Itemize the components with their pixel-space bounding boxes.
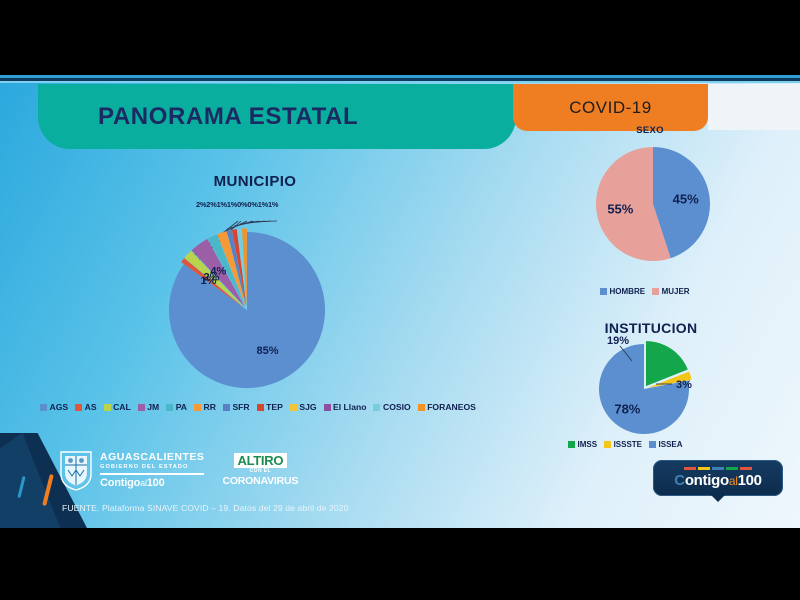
legend-item-issste[interactable]: ISSSTE	[604, 440, 642, 449]
legend-item-sjg[interactable]: SJG	[290, 402, 317, 412]
altiro-logo: ALTIRO CON EL CORONAVIRUS	[222, 453, 298, 487]
municipio-pie-chart: 85%1%2%4%	[143, 215, 373, 400]
right-white-panel	[708, 84, 800, 130]
legend-item-tep[interactable]: TEP	[257, 402, 283, 412]
legend-item-cosio[interactable]: COSIO	[373, 402, 410, 412]
legend-swatch	[75, 404, 82, 411]
legend-swatch	[418, 404, 425, 411]
badge-tail	[711, 495, 725, 502]
municipio-small-slice-labels: 2%2%1%1%0%0%1%1%	[196, 200, 278, 209]
gobierno-wordmark: AGUASCALIENTES GOBIERNO DEL ESTADO Conti…	[100, 452, 204, 489]
legend-label: HOMBRE	[610, 287, 646, 296]
legend-label: ISSEA	[659, 440, 683, 449]
legend-item-issea[interactable]: ISSEA	[649, 440, 683, 449]
sexo-pie-chart: 45%55%	[594, 143, 712, 265]
contigo-badge-text: Contigoal100	[674, 472, 761, 489]
legend-label: MUJER	[662, 287, 690, 296]
gob-100: 100	[147, 477, 165, 489]
legend-swatch	[649, 441, 656, 448]
legend-label: AGS	[50, 402, 69, 412]
legend-item-hombre[interactable]: HOMBRE	[600, 287, 645, 296]
gob-line-1: AGUASCALIENTES	[100, 452, 204, 463]
legend-item-imss[interactable]: IMSS	[568, 440, 597, 449]
altiro-line-1: ALTIRO	[234, 453, 288, 468]
legend-swatch	[223, 404, 230, 411]
slide-title-banner: PANORAMA ESTATAL	[38, 84, 516, 149]
legend-label: RR	[204, 402, 216, 412]
contigo-color-bars	[683, 467, 753, 470]
badge-al: al	[729, 474, 738, 488]
institucion-legend: IMSSISSSTEISSEA	[568, 440, 690, 449]
legend-swatch	[324, 404, 331, 411]
legend-swatch	[194, 404, 201, 411]
source-note: FUENTE. Plataforma SINAVE COVID – 19. Da…	[62, 503, 348, 513]
legend-swatch	[604, 441, 611, 448]
legend-label: COSIO	[383, 402, 411, 412]
legend-item-cal[interactable]: CAL	[104, 402, 131, 412]
badge-ontigo: ontigo	[685, 472, 729, 489]
contigo-al-100-badge: Contigoal100	[653, 460, 783, 496]
covid-tab[interactable]: COVID-19	[513, 84, 708, 131]
legend-label: ISSSTE	[614, 440, 642, 449]
altiro-line-3: CORONAVIRUS	[222, 475, 298, 487]
institucion-label-issste: 3%	[676, 379, 692, 391]
gob-contigo: Contigo	[100, 477, 140, 489]
pie-value-label-issea: 78%	[614, 402, 640, 417]
legend-item-foraneos[interactable]: FORANEOS	[418, 402, 476, 412]
legend-swatch	[652, 288, 659, 295]
covid-tab-label: COVID-19	[569, 98, 651, 118]
legend-item-pa[interactable]: PA	[166, 402, 187, 412]
institucion-pie-chart: 78% 19% 3%	[586, 337, 736, 442]
presentation-slide: PANORAMA ESTATAL COVID-19 MUNICIPIO 2%2%…	[0, 75, 800, 528]
pie-value-label-hombre: 45%	[673, 191, 699, 206]
legend-swatch	[138, 404, 145, 411]
gob-line-2: GOBIERNO DEL ESTADO	[100, 463, 204, 471]
legend-item-sfr[interactable]: SFR	[223, 402, 250, 412]
footer-logos: AGUASCALIENTES GOBIERNO DEL ESTADO Conti…	[58, 448, 298, 492]
legend-label: SJG	[299, 402, 316, 412]
municipio-pie-slices	[169, 229, 325, 388]
legend-label: IMSS	[578, 440, 598, 449]
legend-swatch	[568, 441, 575, 448]
aguascalientes-shield-icon	[58, 448, 94, 492]
screenshot-root: PANORAMA ESTATAL COVID-19 MUNICIPIO 2%2%…	[0, 0, 800, 600]
legend-swatch	[600, 288, 607, 295]
page-title: PANORAMA ESTATAL	[98, 103, 358, 131]
badge-100: 100	[738, 472, 762, 489]
legend-label: PA	[176, 402, 187, 412]
legend-label: SFR	[232, 402, 249, 412]
legend-item-as[interactable]: AS	[75, 402, 96, 412]
legend-label: FORANEOS	[427, 402, 476, 412]
legend-label: AS	[85, 402, 97, 412]
sexo-chart-title: SEXO	[590, 125, 710, 136]
pie-value-label-ags: 85%	[257, 345, 279, 357]
top-accent-line-3	[0, 81, 800, 83]
sexo-legend: HOMBREMUJER	[600, 287, 697, 296]
legend-item-mujer[interactable]: MUJER	[652, 287, 690, 296]
legend-label: TEP	[266, 402, 283, 412]
legend-swatch	[104, 404, 111, 411]
pie-value-label-mujer: 55%	[607, 202, 633, 217]
legend-swatch	[40, 404, 47, 411]
legend-item-ags[interactable]: AGS	[40, 402, 68, 412]
altiro-line-2: CON EL	[250, 468, 271, 475]
legend-item-jm[interactable]: JM	[138, 402, 159, 412]
badge-c: C	[674, 472, 685, 489]
legend-swatch	[166, 404, 173, 411]
gob-line-3: Contigoal100	[100, 477, 204, 489]
institucion-chart-title: INSTITUCION	[556, 320, 746, 336]
legend-item-el-llano[interactable]: El Llano	[324, 402, 367, 412]
municipio-chart-title: MUNICIPIO	[130, 173, 380, 190]
legend-label: JM	[147, 402, 159, 412]
gob-divider	[100, 473, 204, 475]
legend-item-rr[interactable]: RR	[194, 402, 216, 412]
legend-swatch	[257, 404, 264, 411]
institucion-slice-value-labels: 78%	[614, 402, 640, 417]
pie-value-label-jm: 4%	[210, 265, 226, 277]
institucion-label-imss: 19%	[607, 335, 629, 347]
gob-al: al	[140, 478, 147, 488]
legend-swatch	[290, 404, 297, 411]
municipio-legend: AGSASCALJMPARRSFRTEPSJGEl LlanoCOSIOFORA…	[40, 402, 483, 412]
legend-label: CAL	[113, 402, 131, 412]
legend-swatch	[373, 404, 380, 411]
legend-label: El Llano	[333, 402, 366, 412]
